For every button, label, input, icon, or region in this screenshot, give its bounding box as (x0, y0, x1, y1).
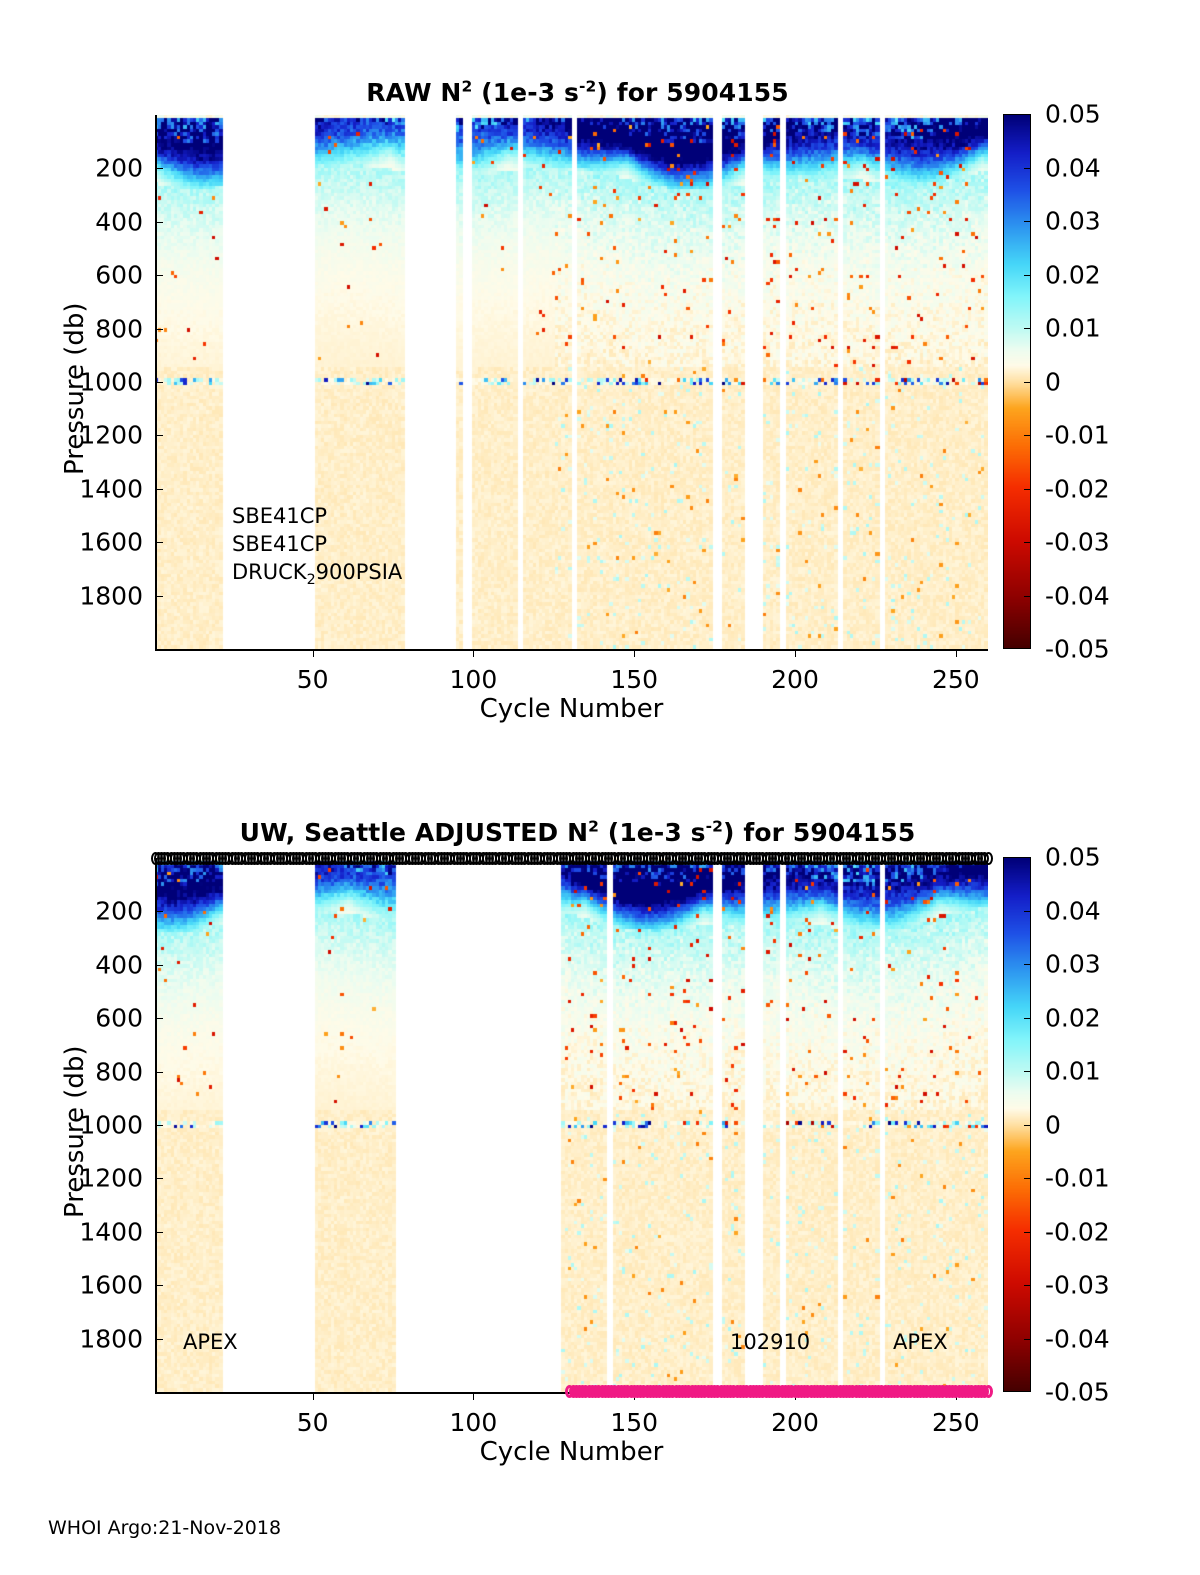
raw-cbar-label-0: 0.05 (1045, 100, 1101, 129)
adjusted-xtick-150 (634, 1392, 635, 1400)
adjusted-x-axis-line (155, 1392, 988, 1394)
adjusted-cbar-label-5: 0 (1045, 1110, 1061, 1139)
raw-ytick-label-1400: 1400 (23, 474, 143, 503)
adjusted-xtick-label-50: 50 (297, 1408, 329, 1437)
adjusted-ytick-label-400: 400 (23, 950, 143, 979)
raw-ytick-label-1600: 1600 (23, 528, 143, 557)
raw-ytick-label-400: 400 (23, 207, 143, 236)
raw-cbar-tick-1 (1024, 168, 1031, 169)
adjusted-y-axis-line (155, 858, 157, 1394)
raw-cbar-label-10: -0.05 (1045, 635, 1110, 664)
raw-cbar-label-4: 0.01 (1045, 314, 1101, 343)
adjusted-plot-title: UW, Seattle ADJUSTED N2 (1e-3 s-2) for 5… (155, 818, 1000, 847)
adjusted-xtick-label-250: 250 (932, 1408, 980, 1437)
adjusted-xtick-label-150: 150 (610, 1408, 658, 1437)
adjusted-xtick-250 (956, 1392, 957, 1400)
raw-y-axis-title: Pressure (db) (60, 302, 90, 475)
raw-ytick-1400 (155, 489, 163, 490)
adjusted-ytick-600 (155, 1018, 163, 1019)
raw-ytick-600 (155, 275, 163, 276)
raw-xtick-label-50: 50 (297, 665, 329, 694)
raw-title-suffix: ) for 5904155 (596, 78, 788, 107)
adjusted-xtick-200 (795, 1392, 796, 1400)
adjusted-cbar-label-0: 0.05 (1045, 843, 1101, 872)
raw-y-axis-line (155, 115, 157, 651)
raw-xtick-50 (313, 649, 314, 657)
raw-x-axis-line (155, 649, 988, 651)
raw-cbar-tick-7 (1024, 489, 1031, 490)
raw-cbar-tick-3 (1024, 275, 1031, 276)
raw-cbar-tick-8 (1024, 542, 1031, 543)
raw-title-sup-1: 2 (461, 78, 472, 96)
sensor-pressure-pre: DRUCK (232, 560, 307, 584)
adjusted-xtick-50 (313, 1392, 314, 1400)
raw-cbar-label-9: -0.04 (1045, 581, 1110, 610)
adjusted-ytick-1400 (155, 1232, 163, 1233)
adjusted-cbar-tick-9 (1024, 1339, 1031, 1340)
raw-cbar-tick-9 (1024, 596, 1031, 597)
raw-colorbar-ticks: 0.050.040.030.020.010-0.01-0.02-0.03-0.0… (1031, 114, 1200, 649)
adjusted-heatmap-canvas (155, 858, 988, 1392)
raw-xtick-label-100: 100 (450, 665, 498, 694)
adjusted-ytick-label-1600: 1600 (23, 1271, 143, 1300)
raw-ytick-400 (155, 222, 163, 223)
raw-xtick-250 (956, 649, 957, 657)
raw-ytick-800 (155, 329, 163, 330)
sensor-ctd-2: SBE41CP (232, 531, 402, 559)
raw-sensor-annotations: SBE41CP SBE41CP DRUCK2900PSIA (232, 503, 402, 587)
adjusted-cbar-tick-8 (1024, 1285, 1031, 1286)
adjusted-xtick-label-200: 200 (771, 1408, 819, 1437)
raw-cbar-label-3: 0.02 (1045, 260, 1101, 289)
adjusted-colorbar-ticks: 0.050.040.030.020.010-0.01-0.02-0.03-0.0… (1031, 857, 1200, 1392)
raw-cbar-tick-4 (1024, 328, 1031, 329)
sensor-ctd-1: SBE41CP (232, 503, 402, 531)
adjusted-cbar-tick-3 (1024, 1018, 1031, 1019)
adjusted-title-prefix: UW, Seattle ADJUSTED N (240, 818, 588, 847)
sensor-pressure: DRUCK2900PSIA (232, 559, 402, 587)
adjusted-platform-right: APEX (893, 1329, 948, 1357)
adjusted-title-sup-2: -2 (706, 818, 723, 836)
raw-cbar-tick-2 (1024, 221, 1031, 222)
adjusted-cbar-label-6: -0.01 (1045, 1164, 1110, 1193)
adjusted-cbar-tick-4 (1024, 1071, 1031, 1072)
sensor-pressure-post: 900PSIA (316, 560, 403, 584)
sensor-pressure-sub: 2 (307, 572, 316, 588)
raw-cbar-label-7: -0.02 (1045, 474, 1110, 503)
adjusted-cbar-label-1: 0.04 (1045, 896, 1101, 925)
adjusted-cbar-tick-6 (1024, 1178, 1031, 1179)
adjusted-ytick-200 (155, 911, 163, 912)
raw-cbar-tick-6 (1024, 435, 1031, 436)
adjusted-cbar-tick-7 (1024, 1232, 1031, 1233)
adjusted-y-axis-title: Pressure (db) (60, 1045, 90, 1218)
raw-cbar-tick-5 (1024, 382, 1031, 383)
adjusted-cbar-label-2: 0.03 (1045, 950, 1101, 979)
raw-ytick-1200 (155, 435, 163, 436)
raw-cbar-label-1: 0.04 (1045, 153, 1101, 182)
adjusted-ytick-label-600: 600 (23, 1004, 143, 1033)
adjusted-cbar-label-8: -0.03 (1045, 1271, 1110, 1300)
raw-plot-title: RAW N2 (1e-3 s-2) for 5904155 (155, 78, 1000, 107)
adjusted-ytick-1800 (155, 1339, 163, 1340)
raw-title-prefix: RAW N (366, 78, 461, 107)
raw-ytick-1600 (155, 542, 163, 543)
raw-ytick-200 (155, 168, 163, 169)
adjusted-ytick-1600 (155, 1285, 163, 1286)
adjusted-ytick-label-1400: 1400 (23, 1217, 143, 1246)
raw-title-mid: (1e-3 s (472, 78, 579, 107)
adjusted-title-mid: (1e-3 s (599, 818, 706, 847)
adjusted-cbar-tick-2 (1024, 964, 1031, 965)
raw-xtick-label-200: 200 (771, 665, 819, 694)
adjusted-ytick-label-200: 200 (23, 897, 143, 926)
adjusted-cbar-label-9: -0.04 (1045, 1324, 1110, 1353)
adjusted-x-axis-title: Cycle Number (155, 1437, 988, 1467)
adjusted-cbar-label-10: -0.05 (1045, 1378, 1110, 1407)
raw-x-axis-title: Cycle Number (155, 694, 988, 724)
adjusted-cbar-label-3: 0.02 (1045, 1003, 1101, 1032)
adjusted-cbar-tick-1 (1024, 911, 1031, 912)
adjusted-title-suffix: ) for 5904155 (723, 818, 915, 847)
raw-xtick-100 (473, 649, 474, 657)
raw-ytick-label-600: 600 (23, 261, 143, 290)
raw-ytick-1800 (155, 596, 163, 597)
raw-cbar-label-8: -0.03 (1045, 528, 1110, 557)
adjusted-cbar-label-4: 0.01 (1045, 1057, 1101, 1086)
adjusted-ytick-1000 (155, 1125, 163, 1126)
adjusted-cbar-tick-5 (1024, 1125, 1031, 1126)
figure-footer: WHOI Argo:21-Nov-2018 (48, 1517, 281, 1539)
adjusted-ytick-1200 (155, 1178, 163, 1179)
raw-ytick-1000 (155, 382, 163, 383)
adjusted-platform-left: APEX (183, 1329, 238, 1357)
raw-title-sup-2: -2 (579, 78, 596, 96)
adjusted-cbar-label-7: -0.02 (1045, 1217, 1110, 1246)
adjusted-xtick-100 (473, 1392, 474, 1400)
raw-xtick-200 (795, 649, 796, 657)
adjusted-title-sup-1: 2 (588, 818, 599, 836)
adjusted-heatmap-axes[interactable] (155, 858, 988, 1392)
adjusted-ytick-label-1800: 1800 (23, 1324, 143, 1353)
adjusted-instrument-code: 102910 (730, 1329, 810, 1357)
raw-cbar-label-6: -0.01 (1045, 421, 1110, 450)
raw-cbar-label-5: 0 (1045, 367, 1061, 396)
adjusted-xtick-label-100: 100 (450, 1408, 498, 1437)
adjusted-ytick-400 (155, 965, 163, 966)
raw-ytick-label-200: 200 (23, 154, 143, 183)
adjusted-ytick-800 (155, 1072, 163, 1073)
raw-ytick-label-1800: 1800 (23, 581, 143, 610)
raw-xtick-label-250: 250 (932, 665, 980, 694)
raw-xtick-150 (634, 649, 635, 657)
raw-cbar-label-2: 0.03 (1045, 207, 1101, 236)
raw-xtick-label-150: 150 (610, 665, 658, 694)
